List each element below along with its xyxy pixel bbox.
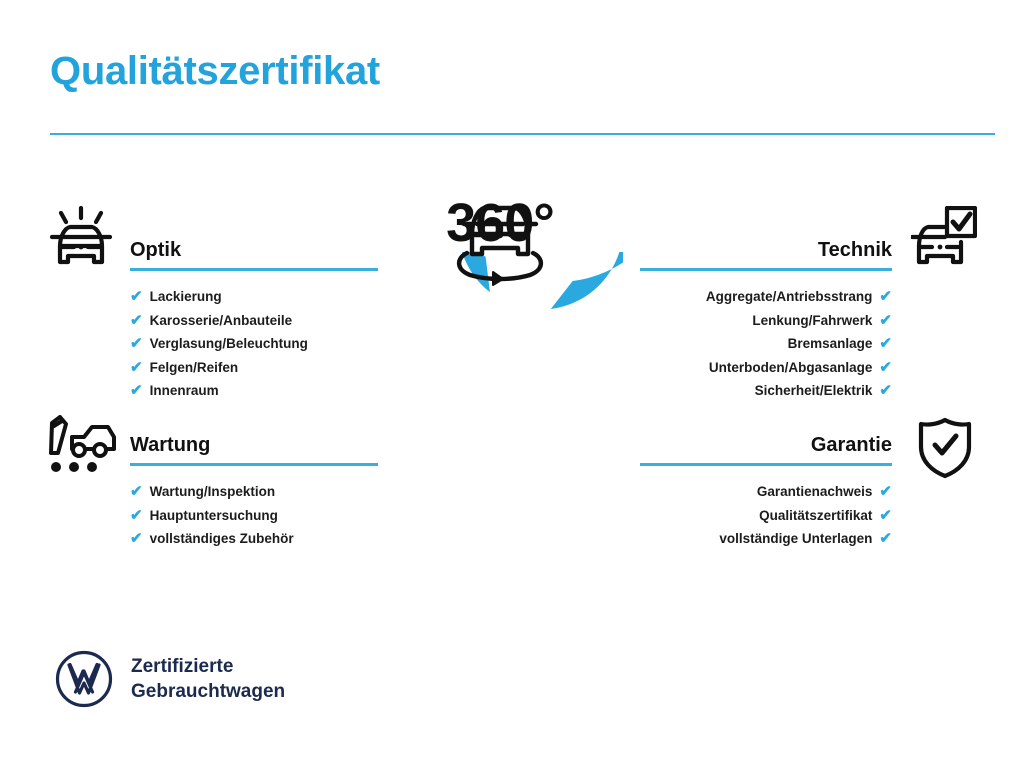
section-wartung: Wartung ✔Wartung/Inspektion ✔Hauptunters… — [130, 432, 378, 551]
check-icon: ✔ — [130, 383, 143, 398]
list-item: ✔Wartung/Inspektion — [130, 480, 378, 504]
list-item: ✔Hauptuntersuchung — [130, 504, 378, 528]
list-item-label: Garantienachweis — [757, 480, 873, 504]
check-icon: ✔ — [130, 313, 143, 328]
list-item-label: Sicherheit/Elektrik — [755, 379, 873, 403]
check-icon: ✔ — [130, 289, 143, 304]
section-list-garantie: Garantienachweis✔ Qualitätszertifikat✔ v… — [640, 480, 892, 551]
check-icon: ✔ — [130, 508, 143, 523]
check-icon: ✔ — [130, 336, 143, 351]
header-divider — [50, 133, 995, 135]
section-list-optik: ✔Lackierung ✔Karosserie/Anbauteile ✔Verg… — [130, 285, 378, 403]
list-item: ✔Innenraum — [130, 379, 378, 403]
section-garantie: Garantie Garantienachweis✔ Qualitätszert… — [640, 432, 892, 551]
page-title: Qualitätszertifikat — [50, 49, 380, 93]
section-list-wartung: ✔Wartung/Inspektion ✔Hauptuntersuchung ✔… — [130, 480, 378, 551]
list-item: Garantienachweis✔ — [640, 480, 892, 504]
list-item: ✔Verglasung/Beleuchtung — [130, 332, 378, 356]
list-item-label: Verglasung/Beleuchtung — [150, 332, 308, 356]
shield-check-icon — [916, 417, 974, 484]
list-item-label: Bremsanlage — [788, 332, 873, 356]
check-icon: ✔ — [879, 360, 892, 375]
list-item: Qualitätszertifikat✔ — [640, 504, 892, 528]
check-icon: ✔ — [130, 360, 143, 375]
list-item-label: vollständiges Zubehör — [150, 527, 294, 551]
section-technik: Technik Aggregate/Antriebsstrang✔ Lenkun… — [640, 237, 892, 403]
brand-lockup: Zertifizierte Gebrauchtwagen — [55, 650, 285, 708]
check-icon: ✔ — [879, 289, 892, 304]
car-checkbox-icon — [911, 206, 977, 273]
check-icon: ✔ — [130, 531, 143, 546]
check-icon: ✔ — [879, 508, 892, 523]
badge-360-gebrauchtwagen-check: Gebrauchtwagen-Check 360° — [377, 196, 623, 496]
list-item: Aggregate/Antriebsstrang✔ — [640, 285, 892, 309]
section-optik: Optik ✔Lackierung ✔Karosserie/Anbauteile… — [130, 237, 378, 403]
list-item-label: Innenraum — [150, 379, 219, 403]
brand-wordmark: Zertifizierte Gebrauchtwagen — [131, 654, 285, 704]
section-title-garantie: Garantie — [640, 432, 892, 458]
check-icon: ✔ — [130, 484, 143, 499]
section-rule-optik — [130, 268, 378, 271]
badge-ring: Gebrauchtwagen-Check — [377, 252, 623, 496]
section-title-optik: Optik — [130, 237, 378, 263]
list-item: Bremsanlage✔ — [640, 332, 892, 356]
list-item: ✔Felgen/Reifen — [130, 356, 378, 380]
list-item: Lenkung/Fahrwerk✔ — [640, 309, 892, 333]
section-title-wartung: Wartung — [130, 432, 378, 458]
check-icon: ✔ — [879, 313, 892, 328]
check-icon: ✔ — [879, 336, 892, 351]
section-header-wartung: Wartung — [130, 432, 378, 466]
list-item: Unterboden/Abgasanlage✔ — [640, 356, 892, 380]
section-header-garantie: Garantie — [640, 432, 892, 466]
section-rule-garantie — [640, 463, 892, 466]
volkswagen-logo-icon — [55, 650, 113, 708]
brand-line-2: Gebrauchtwagen — [131, 679, 285, 704]
section-header-optik: Optik — [130, 237, 378, 271]
list-item: ✔vollständiges Zubehör — [130, 527, 378, 551]
list-item-label: Aggregate/Antriebsstrang — [706, 285, 873, 309]
list-item-label: Hauptuntersuchung — [150, 504, 278, 528]
list-item: vollständige Unterlagen✔ — [640, 527, 892, 551]
list-item-label: Karosserie/Anbauteile — [150, 309, 293, 333]
car-rotate-360-icon — [450, 196, 550, 288]
list-item-label: Qualitätszertifikat — [759, 504, 872, 528]
list-item-label: Wartung/Inspektion — [150, 480, 276, 504]
check-icon: ✔ — [879, 383, 892, 398]
list-item-label: Felgen/Reifen — [150, 356, 239, 380]
list-item: ✔Lackierung — [130, 285, 378, 309]
list-item-label: vollständige Unterlagen — [719, 527, 872, 551]
list-item: Sicherheit/Elektrik✔ — [640, 379, 892, 403]
list-item-label: Lackierung — [150, 285, 222, 309]
check-icon: ✔ — [879, 484, 892, 499]
brand-line-1: Zertifizierte — [131, 654, 285, 679]
section-list-technik: Aggregate/Antriebsstrang✔ Lenkung/Fahrwe… — [640, 285, 892, 403]
section-title-technik: Technik — [640, 237, 892, 263]
list-item-label: Unterboden/Abgasanlage — [709, 356, 873, 380]
car-service-tool-icon — [46, 415, 120, 482]
section-header-technik: Technik — [640, 237, 892, 271]
check-icon: ✔ — [879, 531, 892, 546]
section-rule-wartung — [130, 463, 378, 466]
list-item: ✔Karosserie/Anbauteile — [130, 309, 378, 333]
section-rule-technik — [640, 268, 892, 271]
car-shine-icon — [46, 206, 116, 273]
list-item-label: Lenkung/Fahrwerk — [752, 309, 872, 333]
